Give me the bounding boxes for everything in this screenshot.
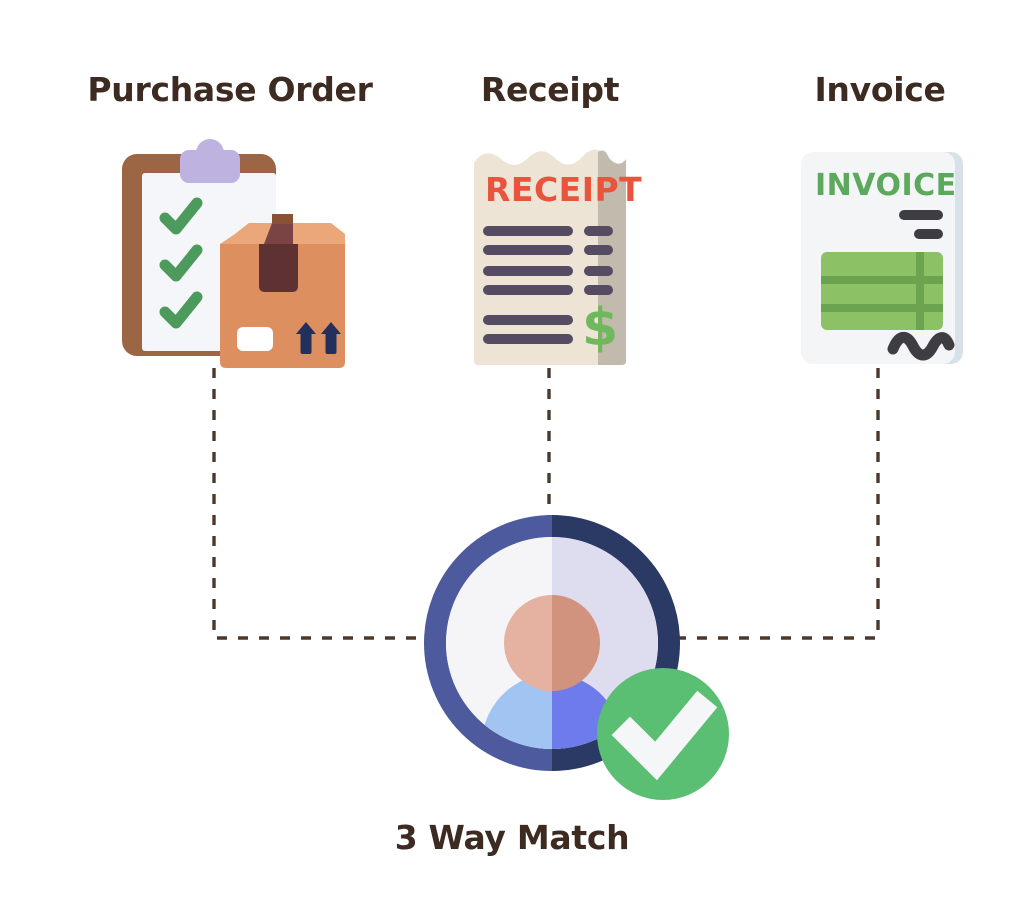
- clipboard-clip-knob: [196, 139, 224, 167]
- invoice-table-column-line: [916, 252, 924, 330]
- invoice-table: [821, 252, 943, 330]
- diagram-canvas: Purchase Order Receipt Invoice 3 Way Mat…: [0, 0, 1024, 915]
- verified-user-avatar-icon: [420, 511, 760, 811]
- receipt-currency-symbol: $: [582, 298, 618, 358]
- invoice-document-icon: INVOICE: [797, 148, 969, 368]
- connector-purchase-order-to-center: [214, 368, 430, 638]
- node-label-three-way-match: 3 Way Match: [282, 818, 742, 857]
- invoice-heading: INVOICE: [815, 168, 957, 203]
- node-label-receipt: Receipt: [370, 70, 730, 109]
- invoice-table-fill: [821, 252, 943, 330]
- invoice-table-row-line-1: [821, 276, 943, 284]
- parcel-box-label: [237, 327, 273, 351]
- clipboard-checklist-and-parcel-box-icon: [118, 140, 353, 370]
- parcel-box-tape-stub: [272, 214, 293, 224]
- node-label-invoice: Invoice: [700, 70, 1024, 109]
- green-check-badge-icon: [597, 668, 729, 800]
- receipt-heading: RECEIPT: [485, 170, 642, 209]
- invoice-dash-long: [899, 210, 943, 220]
- invoice-table-row-line-2: [821, 304, 943, 312]
- receipt-paper-icon: RECEIPT $: [472, 145, 628, 367]
- avatar-person-head: [504, 595, 600, 691]
- parcel-box-tape-body: [259, 244, 298, 292]
- invoice-dash-short: [914, 229, 943, 239]
